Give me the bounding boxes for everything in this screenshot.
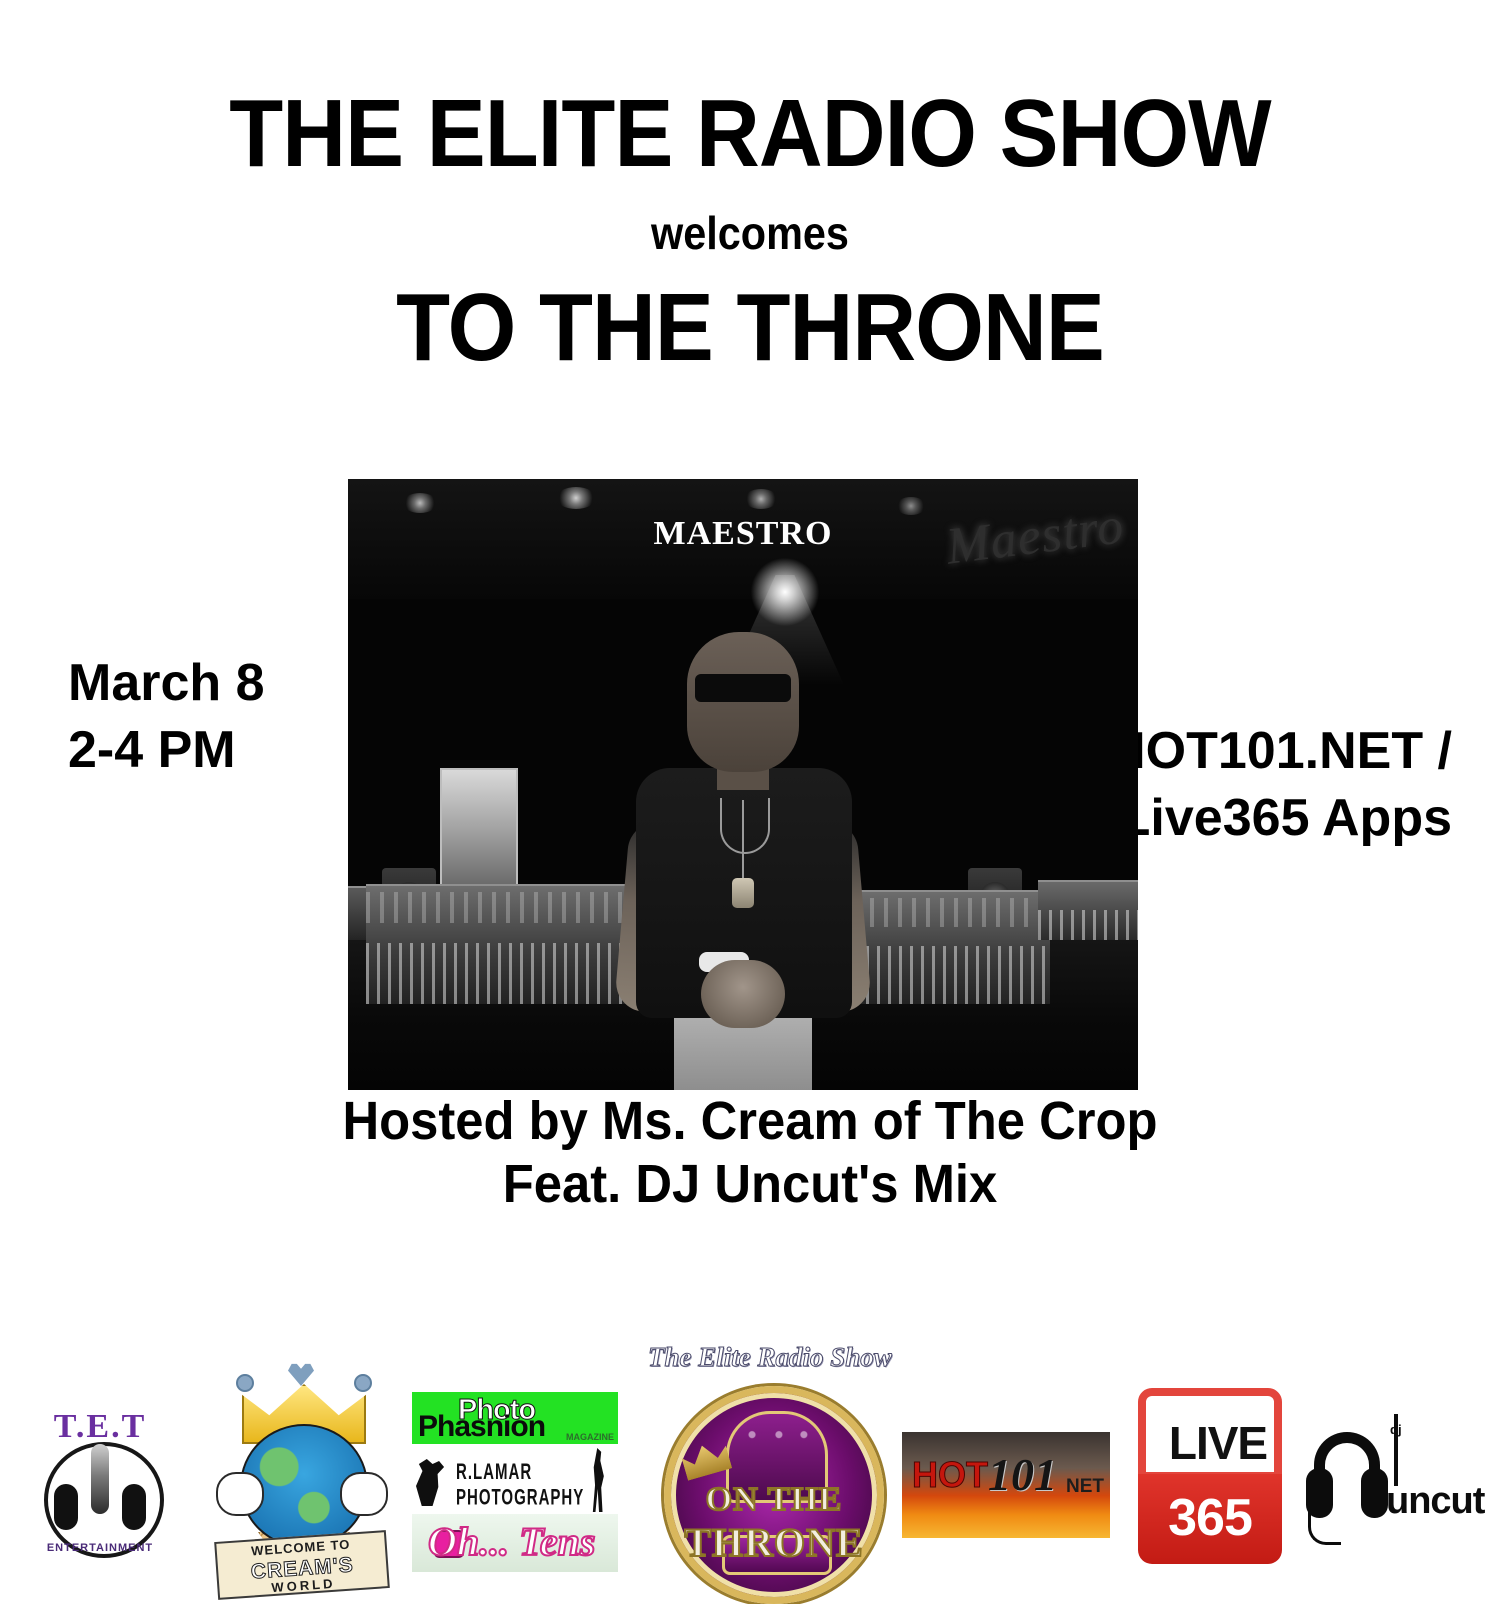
listen-info: HOT101.NET / Live365 Apps: [1108, 718, 1452, 851]
guest-title: TO THE THRONE: [60, 280, 1440, 376]
hot101-number: 101: [988, 1448, 1057, 1501]
guest-figure: [578, 530, 908, 1090]
live365-top: LIVE: [1138, 1388, 1282, 1480]
headphone-cup: [1361, 1468, 1388, 1518]
event-time: 2-4 PM: [68, 717, 265, 784]
throne-emblem: ON THE THRONE: [664, 1386, 884, 1604]
creams-world-banner: WELCOME TO CREAM'S WORLD: [214, 1530, 390, 1600]
credits-block: Hosted by Ms. Cream of The Crop Feat. DJ…: [45, 1090, 1455, 1215]
heart-icon: [288, 1362, 314, 1386]
sponsor-logo-strip: T.E.T ENTERTAINMENT WELCOME TO CREAM'S W…: [0, 1330, 1500, 1600]
schedule-info: March 8 2-4 PM: [68, 650, 265, 783]
dj-credit: Feat. DJ Uncut's Mix: [45, 1153, 1455, 1216]
headphone-cord: [1308, 1512, 1341, 1545]
throne-label: THRONE: [671, 1519, 877, 1566]
live365-bottom: 365: [1138, 1474, 1282, 1564]
phasnion-word: Phasnion: [418, 1410, 545, 1444]
throne-script-label: The Elite Radio Show: [648, 1342, 886, 1373]
crown-jewel-icon: [236, 1374, 254, 1392]
ceiling-light-icon: [744, 489, 778, 509]
headline-connector: welcomes: [75, 210, 1425, 256]
mixing-console: [1038, 880, 1138, 940]
sunglasses-icon: [695, 674, 791, 702]
listen-apps: Live365 Apps: [1108, 785, 1452, 852]
hot101-net-word: NET: [1066, 1476, 1104, 1498]
ohtens-label: Oh... Tens: [428, 1518, 595, 1565]
live365-live-word: LIVE: [1146, 1416, 1290, 1470]
glove-icon: [340, 1472, 388, 1516]
headphones-icon: [54, 1478, 146, 1534]
lamar-photography-label: R.LAMAR PHOTOGRAPHY: [456, 1460, 618, 1511]
ceiling-light-icon: [896, 497, 926, 515]
event-date: March 8: [68, 650, 265, 717]
photo-caption: MAESTRO: [348, 515, 1138, 553]
logo-tet-entertainment[interactable]: T.E.T ENTERTAINMENT: [24, 1404, 176, 1556]
logo-hot101[interactable]: HOT 101 NET: [902, 1432, 1110, 1538]
headphones-icon: [1306, 1432, 1388, 1524]
glove-icon: [216, 1472, 264, 1516]
crown-jewel-icon: [354, 1374, 372, 1392]
tet-initials: T.E.T: [24, 1408, 176, 1446]
hot101-hot-word: HOT: [912, 1454, 988, 1496]
headline-block: THE ELITE RADIO SHOW welcomes TO THE THR…: [0, 86, 1500, 376]
hot101-inner: HOT 101 NET: [902, 1432, 1110, 1538]
listen-url: HOT101.NET /: [1108, 718, 1452, 785]
logo-creams-world[interactable]: WELCOME TO CREAM'S WORLD: [208, 1350, 396, 1590]
figure-hands: [701, 960, 785, 1028]
console-faders: [1038, 910, 1138, 940]
figure-head: [687, 632, 799, 772]
logo-live365[interactable]: LIVE 365: [1138, 1388, 1282, 1564]
crown-icon: [680, 1439, 732, 1481]
host-credit: Hosted by Ms. Cream of The Crop: [45, 1090, 1455, 1153]
logo-dj-uncut[interactable]: dj uncut: [1302, 1408, 1478, 1558]
headphone-cup: [1306, 1468, 1333, 1518]
phasnion-magazine-word: MAGAZINE: [566, 1432, 614, 1442]
tet-tagline: ENTERTAINMENT: [34, 1542, 166, 1554]
logo-on-the-throne[interactable]: The Elite Radio Show ON THE THRONE: [648, 1342, 886, 1592]
guest-photo: Maestro MAESTRO: [348, 479, 1138, 1090]
logo-photo-phasnion-stack[interactable]: Photo Phasnion MAGAZINE R.LAMAR PHOTOGRA…: [412, 1392, 618, 1572]
ceiling-light-icon: [556, 487, 596, 509]
live365-number: 365: [1138, 1488, 1282, 1548]
throne-on-the-label: ON THE: [671, 1481, 877, 1519]
page-title: THE ELITE RADIO SHOW: [60, 86, 1440, 182]
uncut-label: uncut: [1386, 1480, 1484, 1523]
pendant-icon: [732, 878, 754, 908]
uncut-dj-label: dj: [1390, 1422, 1402, 1437]
ceiling-light-icon: [403, 493, 437, 513]
